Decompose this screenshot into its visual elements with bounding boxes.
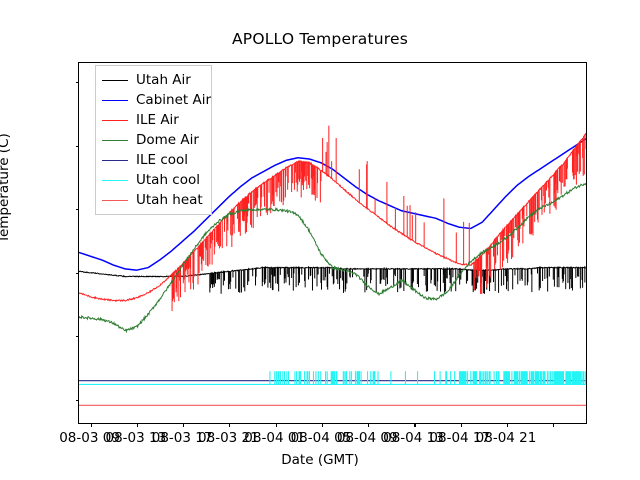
x-tick-mark [276, 423, 277, 427]
legend-item-utah-heat[interactable]: Utah heat [96, 190, 211, 210]
x-tick-label-9: 08-04 21 [476, 430, 537, 446]
legend-item-label: Utah heat [136, 192, 203, 208]
chart-legend: Utah AirCabinet AirILE AirDome AirILE co… [95, 65, 212, 215]
y-tick-mark [76, 209, 80, 210]
y-axis-label: Temperature (C) [0, 133, 12, 243]
legend-item-cabinet-air[interactable]: Cabinet Air [96, 90, 211, 110]
y-tick-mark [76, 273, 80, 274]
legend-item-label: ILE cool [136, 152, 188, 168]
legend-item-ile-cool[interactable]: ILE cool [96, 150, 211, 170]
legend-item-dome-air[interactable]: Dome Air [96, 130, 211, 150]
x-tick-mark [137, 423, 138, 427]
legend-item-label: Cabinet Air [136, 92, 211, 108]
legend-swatch-icon [102, 120, 128, 121]
x-tick-mark [229, 423, 230, 427]
x-tick-mark [368, 423, 369, 427]
legend-item-label: Dome Air [136, 132, 199, 148]
legend-item-utah-air[interactable]: Utah Air [96, 70, 211, 90]
x-tick-mark [322, 423, 323, 427]
legend-swatch-icon [102, 200, 128, 201]
legend-item-ile-air[interactable]: ILE Air [96, 110, 211, 130]
x-tick-mark [91, 423, 92, 427]
legend-item-label: ILE Air [136, 112, 179, 128]
x-tick-mark [414, 423, 415, 427]
series-utah-air [79, 267, 586, 294]
legend-item-label: Utah cool [136, 172, 200, 188]
legend-swatch-icon [102, 140, 128, 141]
y-tick-mark [76, 400, 80, 401]
series-utah-cool-pulses [270, 371, 585, 384]
y-tick-mark [76, 336, 80, 337]
x-tick-mark [461, 423, 462, 427]
figure: APOLLO Temperatures Temperature (C) Date… [0, 0, 640, 480]
legend-item-utah-cool[interactable]: Utah cool [96, 170, 211, 190]
y-tick-mark [76, 146, 80, 147]
legend-swatch-icon [102, 160, 128, 161]
legend-swatch-icon [102, 180, 128, 181]
x-axis-label: Date (GMT) [0, 452, 640, 468]
legend-swatch-icon [102, 100, 128, 101]
legend-swatch-icon [102, 80, 128, 81]
x-tick-mark [507, 423, 508, 427]
chart-title: APOLLO Temperatures [0, 30, 640, 48]
x-tick-mark [553, 423, 554, 427]
legend-item-label: Utah Air [136, 72, 191, 88]
y-tick-mark [76, 82, 80, 83]
x-tick-mark [183, 423, 184, 427]
